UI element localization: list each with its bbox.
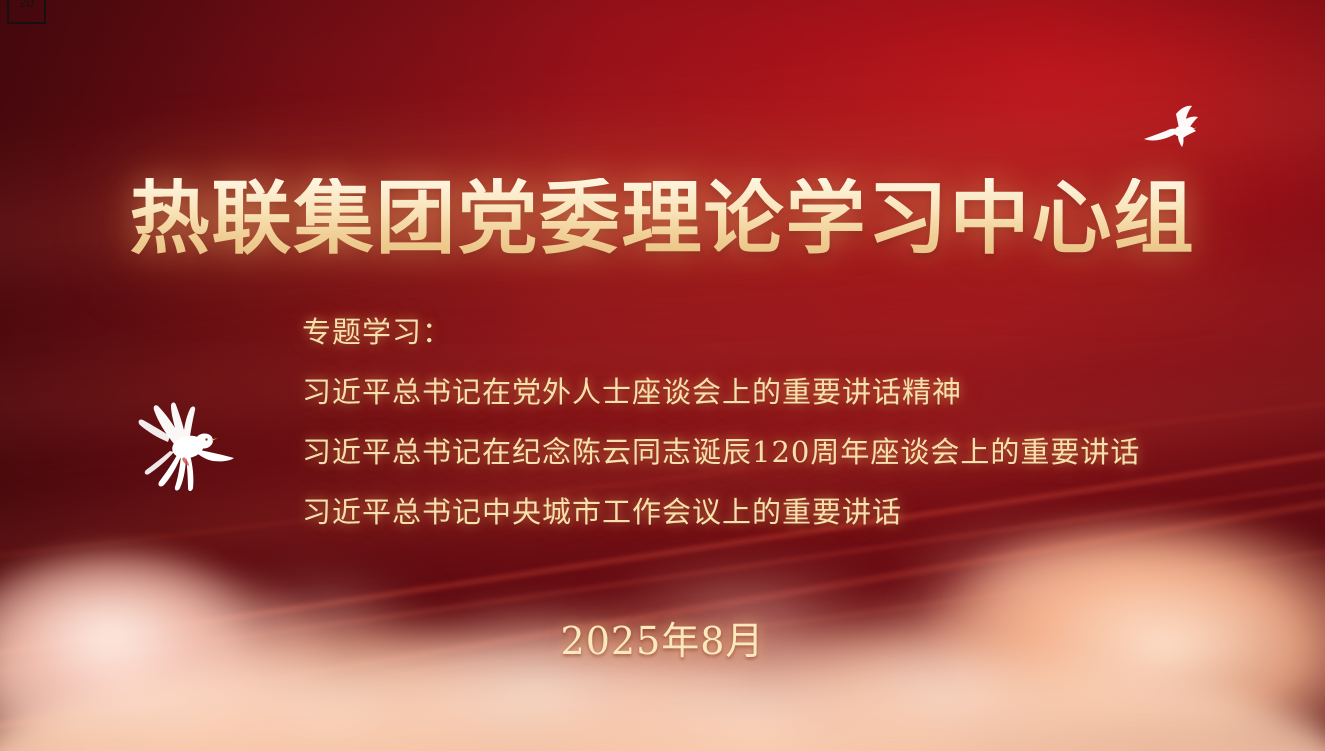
list-item: 习近平总书记在纪念陈云同志诞辰120周年座谈会上的重要讲话 xyxy=(302,422,1182,482)
presentation-slide: 热联集团党委理论学习中心组 专题学习： 习近平总书记在党外人士座谈会上的重要讲话… xyxy=(0,0,1325,751)
subtitle-label: 专题学习： xyxy=(302,302,1182,362)
slide-date: 2025年8月 xyxy=(0,610,1325,665)
list-item: 习近平总书记在党外人士座谈会上的重要讲话精神 xyxy=(302,362,1182,422)
page-number-label: 20 xyxy=(9,0,44,10)
page-title: 热联集团党委理论学习中心组 xyxy=(0,178,1325,258)
list-item: 习近平总书记中央城市工作会议上的重要讲话 xyxy=(302,482,1182,542)
topic-list: 专题学习： 习近平总书记在党外人士座谈会上的重要讲话精神 习近平总书记在纪念陈云… xyxy=(302,302,1182,542)
page-number-marker: 20 xyxy=(7,0,46,24)
